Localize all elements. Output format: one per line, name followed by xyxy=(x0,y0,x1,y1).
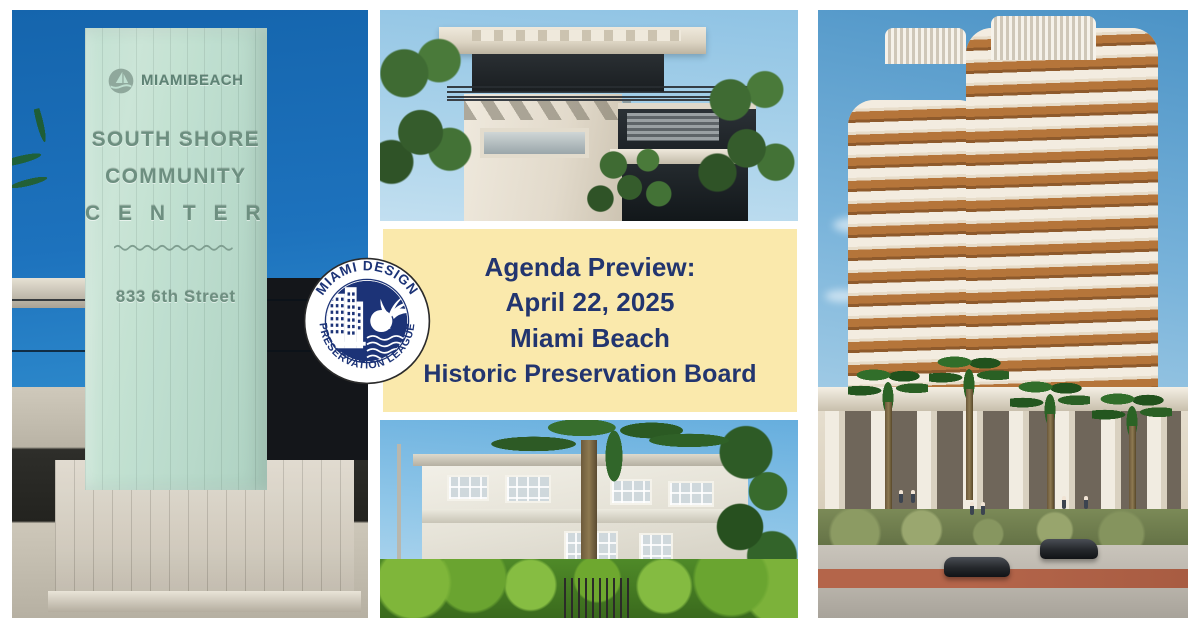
pedestrian xyxy=(911,490,915,503)
sign-base-lip xyxy=(48,591,361,612)
photo-historic-white-two-story-house xyxy=(380,420,798,618)
miami-design-preservation-league-logo: MIAMI DESIGN PRESERVATION LEAGUE xyxy=(302,256,432,386)
parked-car xyxy=(944,557,1010,577)
pedestrian xyxy=(1062,496,1066,509)
sign-line-1: SOUTH SHORE xyxy=(85,128,267,152)
street-palm xyxy=(848,363,928,513)
pedestrian xyxy=(899,490,903,503)
rooftop-screen-left xyxy=(885,28,966,64)
sign-line-3: C E N T E R xyxy=(85,202,267,226)
street-palm xyxy=(1010,375,1090,525)
roof-slat-shadow xyxy=(464,99,631,120)
miami-beach-city-logo-row: MIAMIBEACH xyxy=(85,68,267,94)
pedestrian xyxy=(970,502,974,515)
photo-curved-balcony-tower-rendering xyxy=(818,10,1188,618)
foreground-tree xyxy=(380,10,480,221)
utility-pole xyxy=(397,444,401,559)
card-line-city: Miami Beach xyxy=(510,322,670,356)
rooftop-screen-right xyxy=(991,16,1097,60)
palm-cluster xyxy=(581,141,690,221)
city-logo-wordmark: MIAMIBEACH xyxy=(141,72,244,89)
parked-car xyxy=(1040,539,1098,559)
monument-sign-panel: MIAMIBEACH SOUTH SHORE COMMUNITY C E N T… xyxy=(85,28,267,490)
card-line-board: Historic Preservation Board xyxy=(423,358,756,391)
card-line-agenda-preview: Agenda Preview: xyxy=(484,251,695,285)
street-palm xyxy=(929,350,1009,500)
pedestrian xyxy=(1084,496,1088,509)
sign-line-2: COMMUNITY xyxy=(85,165,267,189)
pedestrian xyxy=(981,502,985,515)
card-line-date: April 22, 2025 xyxy=(505,286,674,320)
graphic-canvas: MIAMIBEACH SOUTH SHORE COMMUNITY C E N T… xyxy=(0,0,1200,628)
palm-crown xyxy=(480,420,748,483)
canopy-slats xyxy=(472,30,681,41)
agenda-preview-card: Agenda Preview: April 22, 2025 Miami Bea… xyxy=(383,229,797,412)
projecting-window-box xyxy=(480,128,589,158)
iron-gate xyxy=(564,578,631,618)
miami-beach-sailboat-icon xyxy=(108,68,134,94)
photo-modern-mimo-residence xyxy=(380,10,798,221)
background-palms xyxy=(698,48,798,221)
sign-wave-rule xyxy=(114,243,237,251)
sign-address: 833 6th Street xyxy=(85,287,267,307)
